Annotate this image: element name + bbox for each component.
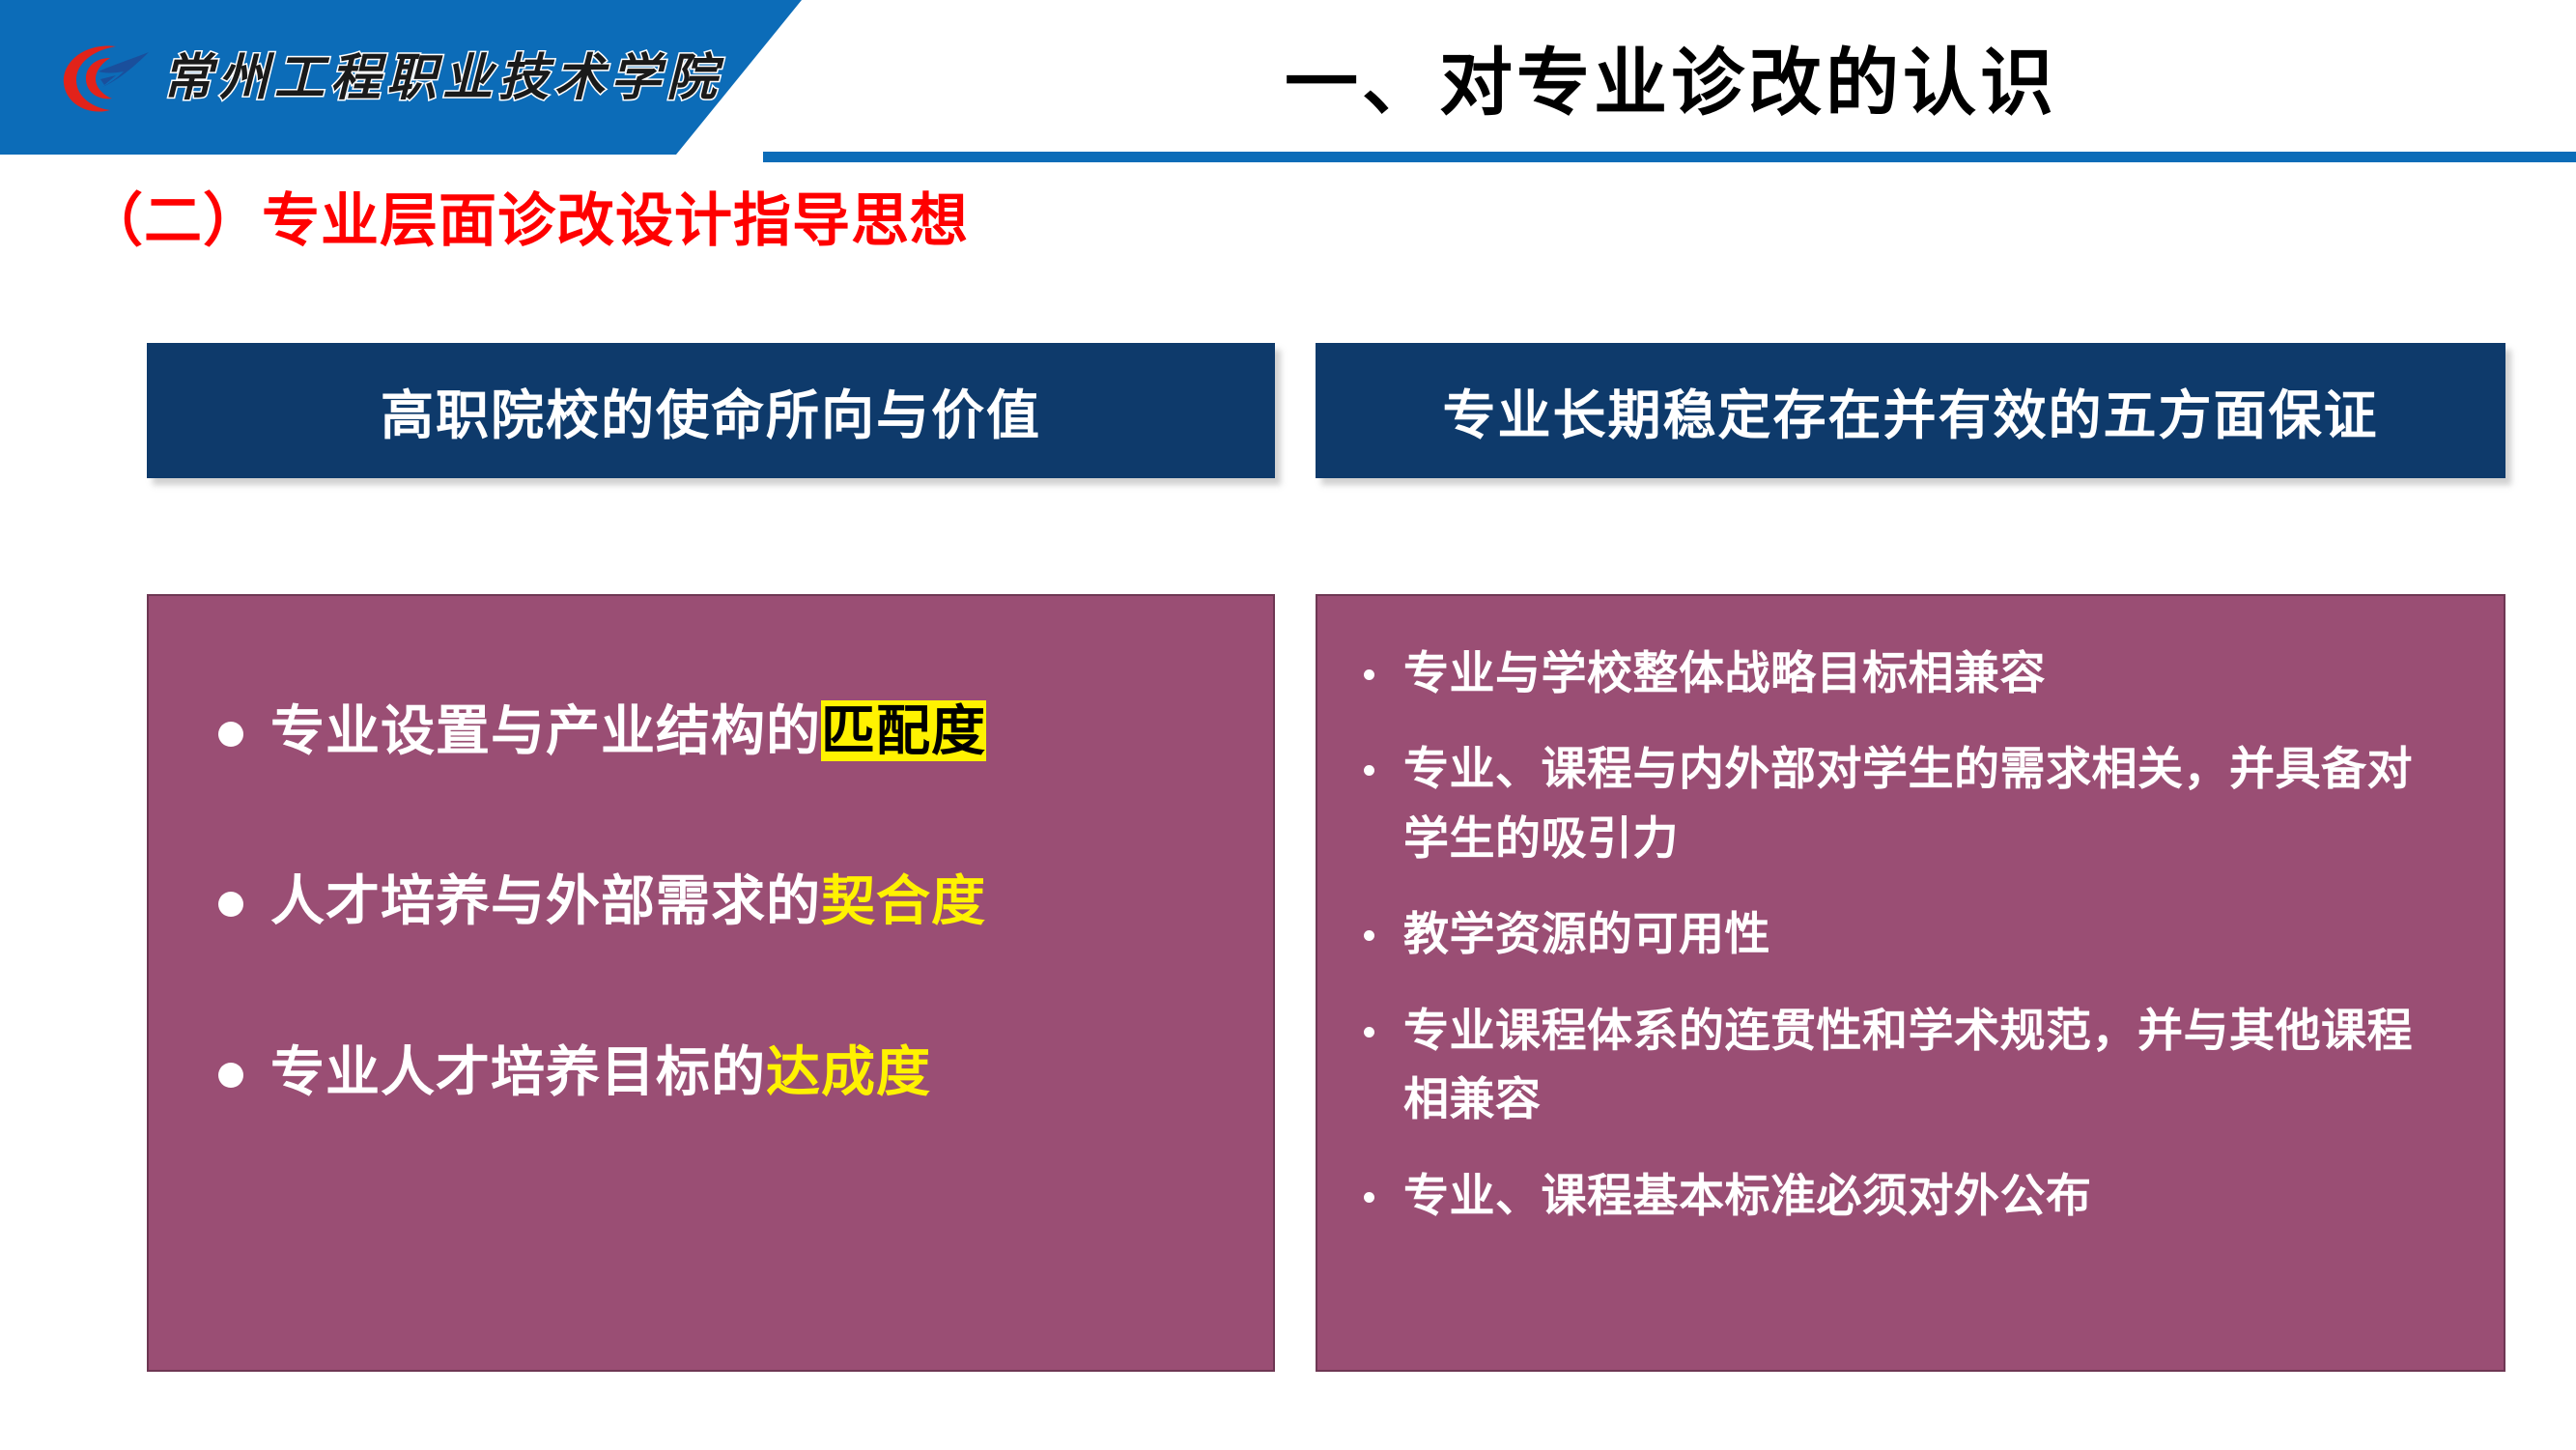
left-bullet-lead: 人才培养与外部需求的 [270,870,821,931]
left-bullet-accent: 达成度 [766,1041,931,1102]
list-item: 专业与学校整体战略目标相兼容 [1317,639,2504,707]
dot-bullet-icon [1364,930,1374,941]
right-bullet-list: 专业与学校整体战略目标相兼容 专业、课程与内外部对学生的需求相关，并具备对学生的… [1317,596,2504,1230]
right-bullet-text: 教学资源的可用性 [1403,899,1770,968]
left-bullet-accent: 契合度 [821,870,986,931]
right-bullet-text: 专业课程体系的连贯性和学术规范，并与其他课程相兼容 [1403,996,2427,1134]
dot-bullet-icon [1364,1027,1374,1038]
left-column-body: 专业设置与产业结构的匹配度 人才培养与外部需求的契合度 专业人才培养目标的达成度 [147,594,1275,1372]
disc-bullet-icon [218,892,243,917]
right-column-header-label: 专业长期稳定存在并有效的五方面保证 [1442,372,2378,449]
right-column-header: 专业长期稳定存在并有效的五方面保证 [1316,343,2505,478]
left-bullet-lead: 专业设置与产业结构的 [270,700,821,761]
disc-bullet-icon [218,722,243,747]
list-item: 专业人才培养目标的达成度 [149,1041,1273,1103]
dot-bullet-icon [1364,669,1374,680]
list-item: 人才培养与外部需求的契合度 [149,870,1273,932]
left-column-header: 高职院校的使命所向与价值 [147,343,1275,478]
disc-bullet-icon [218,1063,243,1088]
left-bullet-lead: 专业人才培养目标的 [270,1041,766,1102]
institution-name: 常州工程职业技术学院 [162,37,722,109]
logo-banner: 常州工程职业技术学院 [0,0,802,155]
list-item: 专业课程体系的连贯性和学术规范，并与其他课程相兼容 [1317,996,2504,1134]
dot-bullet-icon [1364,1192,1374,1203]
left-bullet-accent: 匹配度 [821,700,986,761]
dot-bullet-icon [1364,765,1374,776]
slide-header: 常州工程职业技术学院 一、对专业诊改的认识 [0,0,2576,166]
institution-logo-icon [56,39,153,118]
right-bullet-text: 专业与学校整体战略目标相兼容 [1403,639,2046,707]
left-bullet-text: 专业人才培养目标的达成度 [270,1041,931,1103]
page-title: 一、对专业诊改的认识 [850,23,2492,129]
left-bullet-text: 专业设置与产业结构的匹配度 [270,700,986,762]
right-bullet-text: 专业、课程与内外部对学生的需求相关，并具备对学生的吸引力 [1403,734,2427,872]
left-bullet-list: 专业设置与产业结构的匹配度 人才培养与外部需求的契合度 专业人才培养目标的达成度 [149,596,1273,1103]
right-column-body: 专业与学校整体战略目标相兼容 专业、课程与内外部对学生的需求相关，并具备对学生的… [1316,594,2505,1372]
title-underline-rule [763,152,2576,162]
list-item: 专业、课程基本标准必须对外公布 [1317,1161,2504,1230]
left-column-header-label: 高职院校的使命所向与价值 [381,372,1041,449]
right-bullet-text: 专业、课程基本标准必须对外公布 [1403,1161,2092,1230]
section-subtitle: （二）专业层面诊改设计指导思想 [85,174,969,258]
list-item: 教学资源的可用性 [1317,899,2504,968]
list-item: 专业设置与产业结构的匹配度 [149,700,1273,762]
left-bullet-text: 人才培养与外部需求的契合度 [270,870,986,932]
list-item: 专业、课程与内外部对学生的需求相关，并具备对学生的吸引力 [1317,734,2504,872]
